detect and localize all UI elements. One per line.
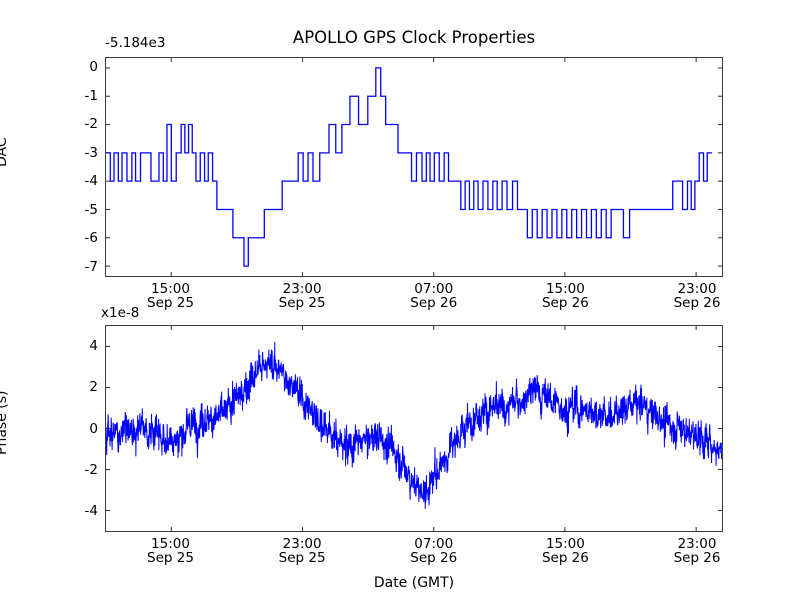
x-tick-time: 15:00 (147, 282, 194, 296)
y-tick-label: -2 (85, 462, 98, 478)
matplotlib-figure: APOLLO GPS Clock Properties -5.184e3 x1e… (0, 0, 800, 600)
x-tick-time: 23:00 (279, 282, 326, 296)
phase-y-axis-label: Phase (s) (0, 391, 10, 455)
x-tick-label: 15:00Sep 26 (542, 537, 589, 566)
x-tick-time: 15:00 (542, 537, 589, 551)
x-tick-date: Sep 25 (147, 296, 194, 310)
x-tick-time: 07:00 (410, 282, 457, 296)
x-tick-date: Sep 26 (542, 296, 589, 310)
dac-axis-offset-label: -5.184e3 (105, 35, 165, 51)
x-tick-label: 23:00Sep 25 (279, 537, 326, 566)
y-tick-label: -6 (85, 230, 98, 246)
x-tick-date: Sep 25 (279, 551, 326, 565)
x-tick-time: 15:00 (542, 282, 589, 296)
x-tick-label: 15:00Sep 26 (542, 282, 589, 311)
dac-y-axis-label: DAC (0, 137, 10, 167)
dac-plot-area (105, 57, 723, 277)
x-tick-label: 07:00Sep 26 (410, 537, 457, 566)
x-tick-date: Sep 25 (279, 296, 326, 310)
x-tick-time: 23:00 (674, 282, 721, 296)
dac-y-tick-labels: 0-1-2-3-4-5-6-7 (40, 57, 98, 277)
dac-x-tick-labels: 15:00Sep 2523:00Sep 2507:00Sep 2615:00Se… (105, 279, 723, 323)
y-tick-label: 0 (89, 421, 98, 437)
x-tick-time: 23:00 (279, 537, 326, 551)
figure-title: APOLLO GPS Clock Properties (105, 28, 723, 47)
phase-x-tick-labels: 15:00Sep 2523:00Sep 2507:00Sep 2615:00Se… (105, 534, 723, 578)
dac-series-svg (106, 58, 722, 276)
x-tick-date: Sep 26 (410, 551, 457, 565)
y-tick-label: -4 (85, 503, 98, 519)
y-tick-label: 0 (89, 59, 98, 75)
x-tick-label: 23:00Sep 26 (674, 282, 721, 311)
x-tick-label: 07:00Sep 26 (410, 282, 457, 311)
y-tick-label: -4 (85, 173, 98, 189)
phase-y-tick-labels: 420-2-4 (40, 325, 98, 532)
phase-plot-area (105, 325, 723, 532)
x-tick-label: 23:00Sep 26 (674, 537, 721, 566)
x-tick-date: Sep 26 (410, 296, 457, 310)
y-tick-label: -5 (85, 202, 98, 218)
x-tick-date: Sep 26 (674, 551, 721, 565)
x-tick-label: 15:00Sep 25 (147, 537, 194, 566)
y-tick-label: -7 (85, 259, 98, 275)
x-tick-date: Sep 25 (147, 551, 194, 565)
phase-series-svg (106, 326, 722, 531)
y-tick-label: 4 (89, 338, 98, 354)
y-tick-label: -3 (85, 145, 98, 161)
y-tick-label: -1 (85, 88, 98, 104)
x-tick-time: 07:00 (410, 537, 457, 551)
x-tick-label: 23:00Sep 25 (279, 282, 326, 311)
y-tick-label: 2 (89, 379, 98, 395)
x-tick-label: 15:00Sep 25 (147, 282, 194, 311)
x-tick-time: 23:00 (674, 537, 721, 551)
x-tick-time: 15:00 (147, 537, 194, 551)
x-tick-date: Sep 26 (674, 296, 721, 310)
y-tick-label: -2 (85, 116, 98, 132)
x-tick-date: Sep 26 (542, 551, 589, 565)
